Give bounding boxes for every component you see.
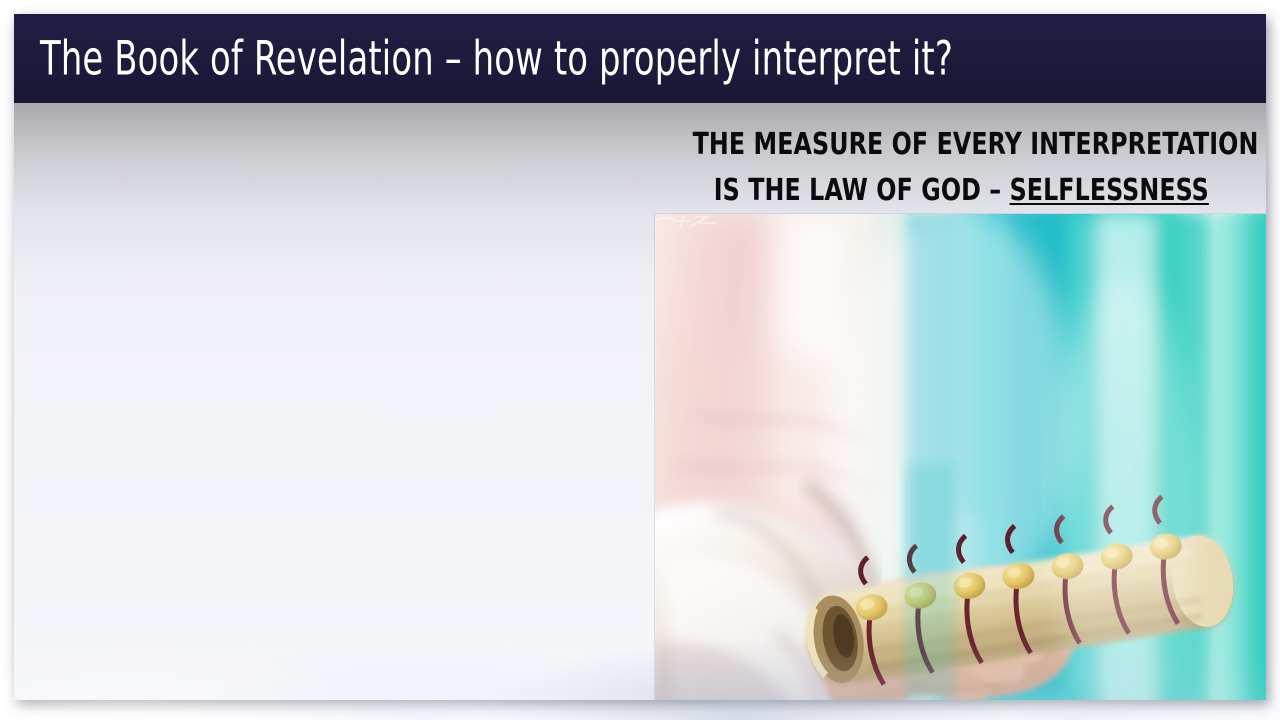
- image-caption: THE MEASURE OF EVERY INTERPRETATION IS T…: [654, 122, 1266, 214]
- scroll-illustration: [655, 214, 1266, 700]
- slide-viewer: The Book of Revelation – how to properly…: [0, 0, 1280, 720]
- slide-title-bar: The Book of Revelation – how to properly…: [14, 14, 1266, 103]
- caption-emphasis-selflessness: SELFLESSNESS: [1010, 173, 1209, 208]
- slide-title: The Book of Revelation – how to properly…: [40, 31, 953, 86]
- caption-line-2-inner: IS THE LAW OF GOD – SELFLESSNESS: [714, 168, 1209, 214]
- presentation-slide: The Book of Revelation – how to properly…: [14, 14, 1266, 700]
- caption-line-1-text: THE MEASURE OF EVERY INTERPRETATION: [693, 122, 1259, 168]
- caption-line-1: THE MEASURE OF EVERY INTERPRETATION: [654, 122, 1266, 168]
- caption-line-2: IS THE LAW OF GOD – SELFLESSNESS: [654, 168, 1266, 214]
- scroll-illustration-art: [655, 214, 1266, 700]
- caption-line-2-prefix: IS THE LAW OF GOD –: [714, 173, 1010, 208]
